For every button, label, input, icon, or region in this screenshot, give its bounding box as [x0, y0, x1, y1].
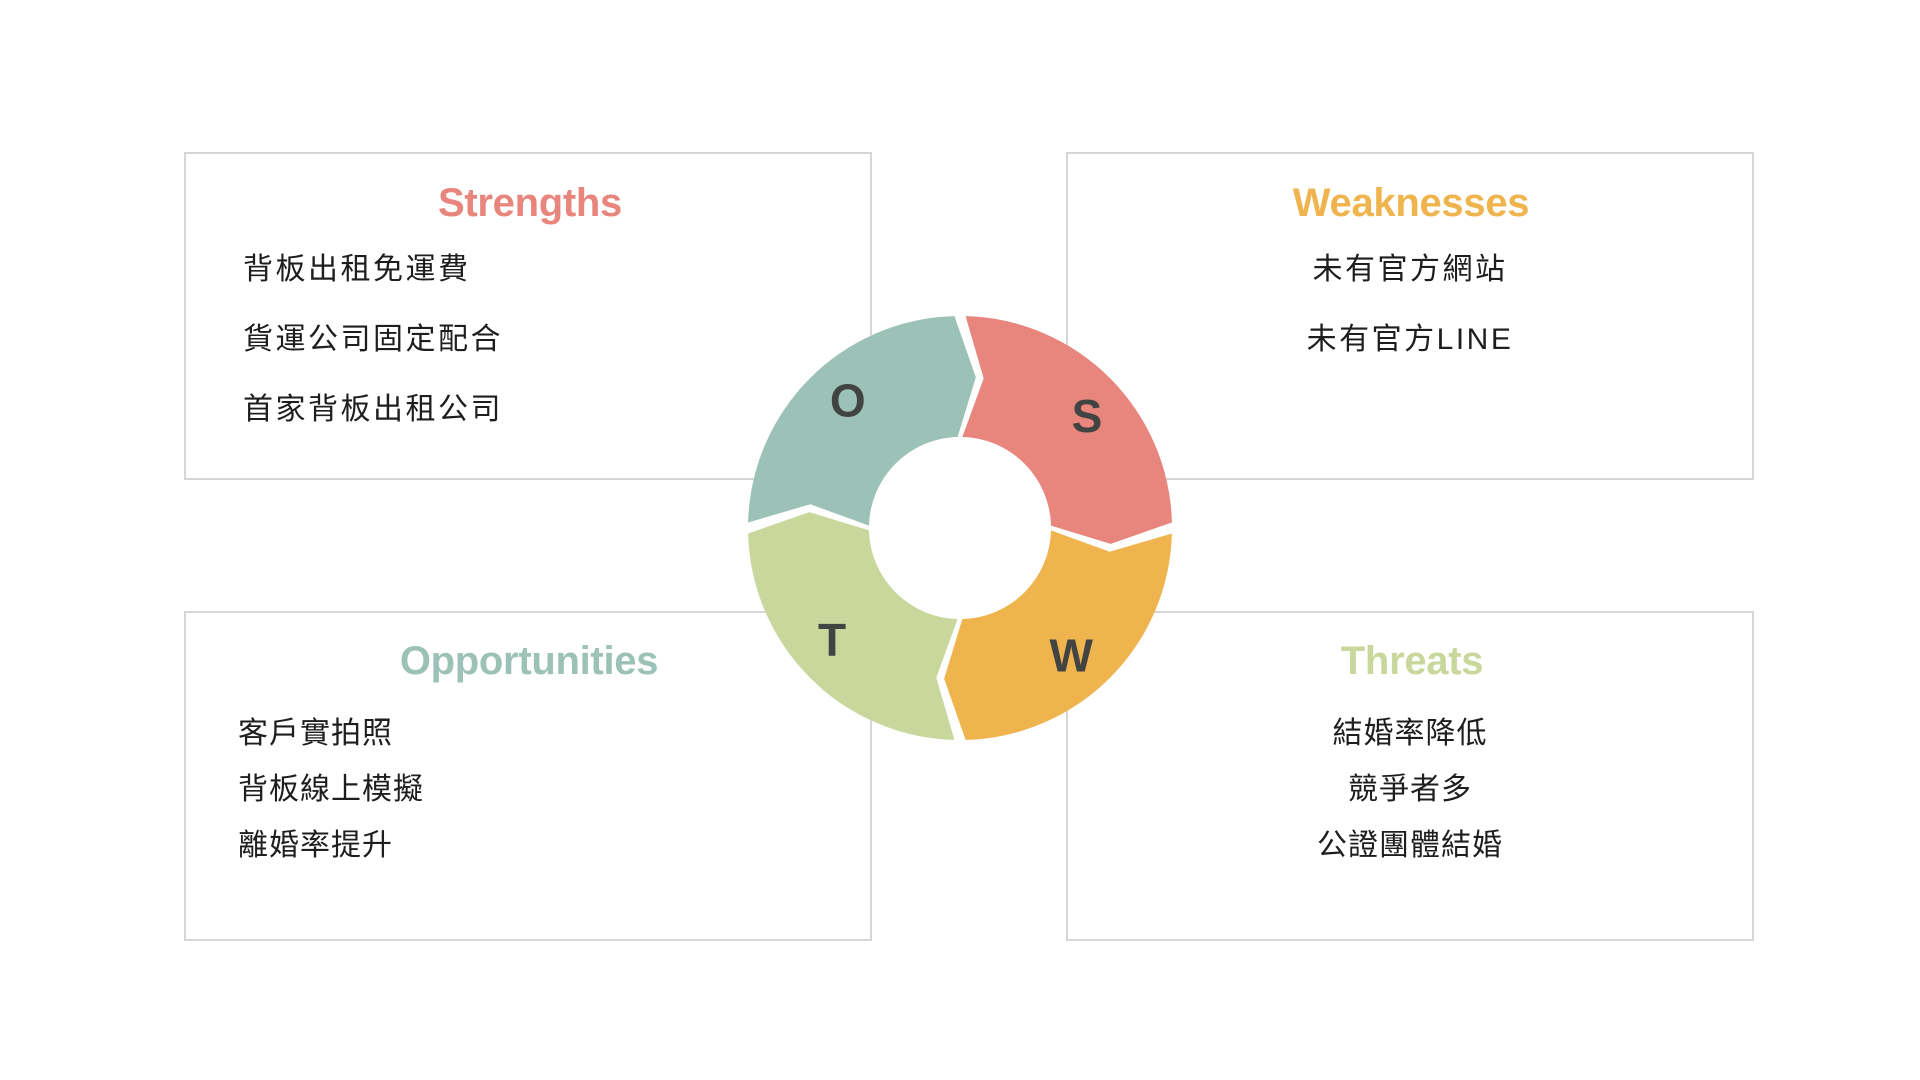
quadrant-title-weaknesses: Weaknesses: [1293, 183, 1529, 223]
list-item: 未有官方LINE: [1307, 325, 1514, 355]
quadrant-title-threats: Threats: [1341, 641, 1483, 681]
donut-label-t: T: [818, 614, 847, 666]
list-item: 背板線上模擬: [238, 775, 870, 805]
list-item: 結婚率降低: [1333, 719, 1488, 749]
list-item: 公證團體結婚: [1317, 831, 1503, 861]
list-item: 未有官方網站: [1313, 255, 1508, 285]
list-item: 背板出租免運費: [243, 255, 870, 285]
list-item: 競爭者多: [1348, 775, 1472, 805]
donut-label-o: O: [830, 375, 867, 427]
donut-hub: [869, 437, 1051, 619]
donut-label-w: W: [1050, 629, 1094, 681]
donut-label-s: S: [1072, 390, 1104, 442]
quadrant-title-strengths: Strengths: [438, 183, 622, 223]
swot-diagram-canvas: Strengths 背板出租免運費 貨運公司固定配合 首家背板出租公司 Weak…: [0, 0, 1920, 1080]
swot-donut-chart: SWTO: [744, 312, 1176, 744]
donut-svg: SWTO: [744, 312, 1176, 744]
quadrant-title-opportunities: Opportunities: [400, 641, 658, 681]
list-item: 離婚率提升: [238, 831, 870, 861]
